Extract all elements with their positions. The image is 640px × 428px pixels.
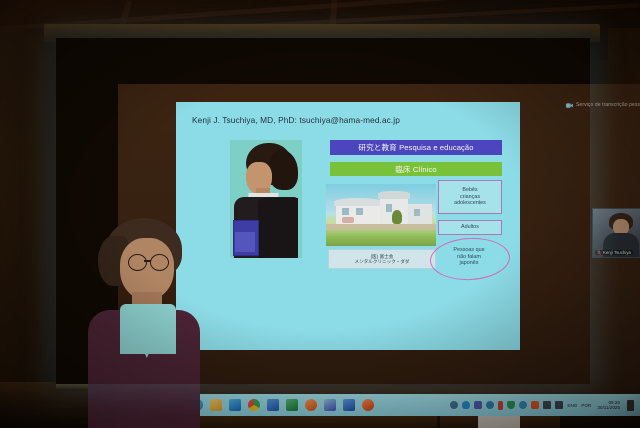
zoom-icon[interactable]: [305, 399, 317, 411]
slide-title-text: Kenji J. Tsuchiya, MD, PhD: tsuchiya@ham…: [192, 115, 400, 125]
zoom-participant-thumbnail[interactable]: Kenji Tsuchiya: [592, 208, 640, 258]
slide-bar-clinic-label: 臨床 Clínico: [395, 164, 437, 175]
battery-icon[interactable]: [498, 401, 503, 410]
volume-icon[interactable]: [543, 401, 551, 409]
eyeglasses-left-lens: [128, 254, 147, 271]
excel-icon[interactable]: [286, 399, 298, 411]
mail-icon[interactable]: [229, 399, 241, 411]
app-icon[interactable]: [531, 401, 539, 409]
shield-icon[interactable]: [507, 401, 515, 409]
eyeglasses-right-lens: [150, 254, 169, 271]
clinic-caption: (医) 富士会 メンタルクリニック・ダダ: [328, 249, 436, 269]
transcription-notification[interactable]: Serviço de transcrição pessoal ⌃: [562, 98, 640, 112]
photo-clinic-building: [326, 184, 436, 246]
tag-nonjp-line1: Pessoas que: [453, 247, 484, 254]
tag-children-line3: adolescentes: [454, 200, 486, 207]
chrome-icon[interactable]: [248, 399, 260, 411]
tag-nonjp-line3: japonês: [460, 260, 479, 267]
notification-label: Serviço de transcrição pessoal: [576, 102, 640, 108]
office-icon[interactable]: [362, 399, 374, 411]
onedrive-icon[interactable]: [462, 401, 470, 409]
file-explorer-icon[interactable]: [210, 399, 222, 411]
tag-children-line1: Bebês: [462, 187, 477, 194]
teams-icon[interactable]: [324, 399, 336, 411]
participant-name-badge: Kenji Tsuchiya: [595, 250, 633, 255]
slide-bar-clinic: 臨床 Clínico: [330, 162, 502, 176]
taskbar-clock[interactable]: 09:20 30/11/2025: [597, 400, 620, 411]
globe-icon[interactable]: [486, 401, 494, 409]
powerpoint-icon[interactable]: [267, 399, 279, 411]
display-icon[interactable]: [555, 401, 563, 409]
photo-presenter-portrait: [230, 140, 302, 258]
photo-of-lecture-room: Serviço de transcrição pessoal ⌃ Kenji J…: [0, 0, 640, 428]
tray-chevron-icon[interactable]: [450, 401, 458, 409]
tag-children-line2: crianças: [460, 194, 480, 201]
clock-date: 30/11/2025: [597, 405, 620, 410]
participant-name-text: Kenji Tsuchiya: [603, 250, 631, 255]
tag-children: Bebês crianças adolescentes: [438, 180, 502, 214]
slide-bar-research: 研究と教育 Pesquisa e educação: [330, 140, 502, 155]
clinic-caption-line2: メンタルクリニック・ダダ: [354, 259, 409, 264]
tag-adults: Adultos: [438, 220, 502, 235]
ime-indicator[interactable]: POR: [581, 403, 591, 408]
shared-presentation-slide: Kenji J. Tsuchiya, MD, PhD: tsuchiya@ham…: [176, 102, 520, 350]
slide-bar-research-label: 研究と教育 Pesquisa e educação: [358, 142, 473, 153]
taskbar-pinned-apps: [191, 399, 374, 411]
show-desktop-button[interactable]: [627, 400, 634, 411]
zoom-logo-icon: [566, 102, 573, 109]
tag-adults-line1: Adultos: [461, 224, 479, 231]
word-icon[interactable]: [343, 399, 355, 411]
microphone-muted-icon: [597, 250, 601, 255]
presenter-in-room: [84, 218, 202, 428]
network-icon[interactable]: [474, 401, 482, 409]
tag-non-japanese-speakers: Pessoas que não falam japonês: [434, 242, 504, 272]
system-tray: ENG POR 09:20 30/11/2025: [450, 400, 640, 411]
language-indicator[interactable]: ENG: [567, 403, 577, 408]
cloud-icon[interactable]: [519, 401, 527, 409]
tag-nonjp-line2: não falam: [457, 254, 481, 261]
